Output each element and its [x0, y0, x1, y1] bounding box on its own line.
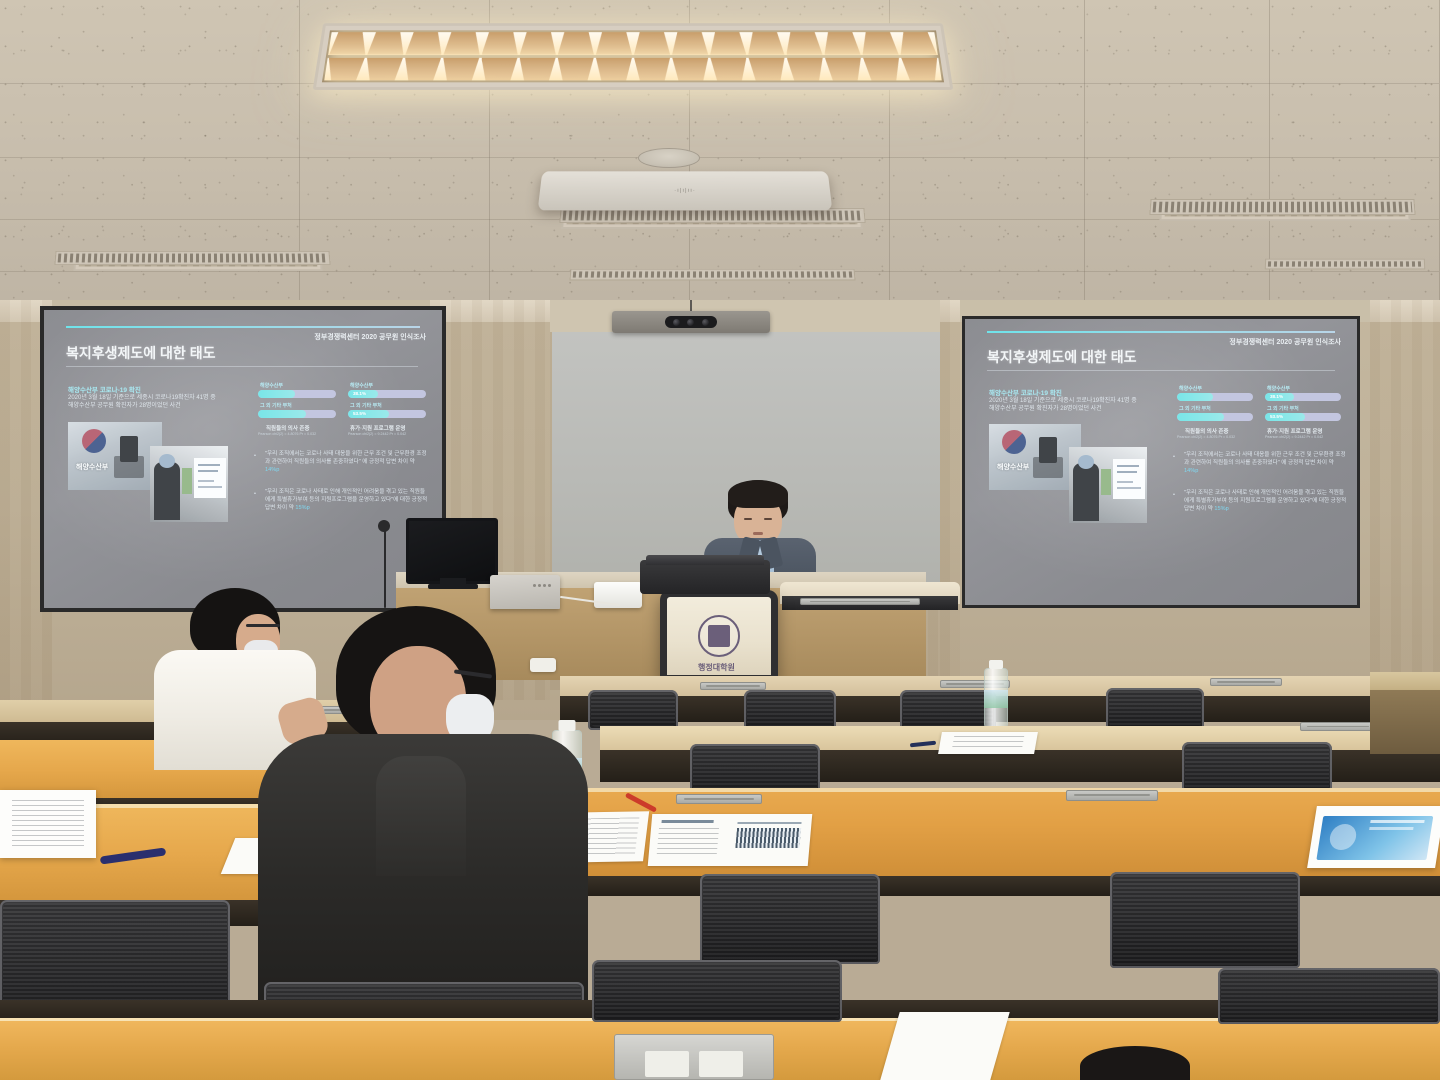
- bar-value: 38.1%: [353, 391, 366, 396]
- slide-title-rule: [66, 366, 418, 367]
- case-body: 2020년 3월 18일 기준으로 세종시 코로나19확진자 41명 중 해양수…: [68, 394, 258, 410]
- bar-value: 53.5%: [353, 411, 366, 416]
- bar-track: [1177, 393, 1253, 401]
- bar-fill: [258, 410, 306, 418]
- monitor-base: [428, 584, 478, 589]
- slide-header: 정부경쟁력센터 2020 공무원 인식조사: [1229, 337, 1341, 347]
- ceiling-speaker: ·ı|ı|ıı·: [538, 171, 833, 210]
- monitor-screen: [406, 518, 498, 584]
- bullet-text: "우리 조직은 코로나 사태로 인해 개인적인 어려움을 겪고 있는 직원들에게…: [1184, 490, 1346, 512]
- ceiling-tile-col: [1085, 0, 1270, 330]
- chart-title: 휴가·지원 프로그램 운영: [1267, 427, 1323, 435]
- bullet-item: • "우리 조직은 코로나 사태로 인해 개인적인 어려움을 겪고 있는 직원들…: [1173, 489, 1347, 513]
- wood-wall-panel: [940, 300, 960, 720]
- desktop-monitor: [406, 518, 498, 584]
- handout-paper: [880, 1012, 1009, 1080]
- bullet-text: "우리 조직에서는 코로나 사태 대응을 위한 근무 조건 및 근무환경 조정과…: [265, 451, 427, 465]
- booklet: [0, 790, 96, 858]
- office-chair: [588, 690, 678, 730]
- office-chair: [700, 874, 880, 964]
- handout-paper: [648, 814, 813, 866]
- table-row2-edge: [470, 788, 1440, 792]
- projection-screen-right: 정부경쟁력센터 2020 공무원 인식조사 복지후생제도에 대한 태도 해양수산…: [962, 316, 1360, 608]
- seminar-room-photo: ·ı|ı|ıı· 정부경쟁력센터 2020 공무원 인식조사 복지후생제도에 대…: [0, 0, 1440, 1080]
- office-chair: [1218, 968, 1440, 1024]
- slide-header: 정부경쟁력센터 2020 공무원 인식조사: [314, 332, 426, 342]
- bar-label: 그 외 기타 부처: [260, 402, 292, 409]
- case-photo-disinfection: [150, 446, 228, 522]
- camera-lens-icon: [665, 316, 717, 328]
- bullet-highlight: 14%p: [265, 467, 279, 473]
- office-chair: [592, 960, 842, 1022]
- chart-annotation: Pearson chi2(2) = 9.2442 Pr = 0.042: [1265, 435, 1323, 439]
- case-heading: 해양수산부 코로나-19 확진: [68, 384, 141, 394]
- bar-label: 그 외 기타 부처: [1267, 405, 1299, 412]
- bar-track: [258, 410, 336, 418]
- wood-wall-panel: [1370, 300, 1440, 720]
- case-body: 2020년 3월 18일 기준으로 세종시 코로나19확진자 41명 중 해양수…: [989, 397, 1179, 413]
- fluorescent-tube: [328, 32, 938, 54]
- bullet-marker: •: [254, 452, 256, 460]
- bar-label: 그 외 기타 부처: [350, 402, 382, 409]
- bullet-item: • "우리 조직은 코로나 사태로 인해 개인적인 어려움을 겪고 있는 직원들…: [254, 488, 430, 512]
- desk-power-port: [800, 598, 920, 605]
- bar-fill: [258, 390, 295, 398]
- office-chair: [744, 690, 836, 730]
- desk-power-port: [700, 682, 766, 690]
- chart-title: 직원들의 의사 존중: [266, 424, 310, 432]
- bullet-marker: •: [254, 490, 256, 498]
- desk-power-outlet: [614, 1034, 774, 1080]
- bar-track: [1177, 413, 1253, 421]
- water-bottle: [984, 668, 1008, 730]
- office-chair: [1106, 688, 1204, 730]
- taeguk-icon: [1002, 430, 1026, 454]
- bullet-text: "우리 조직은 코로나 사태로 인해 개인적인 어려움을 겪고 있는 직원들에게…: [265, 489, 427, 511]
- hvac-vent: [570, 269, 856, 280]
- photo-caption: 해양수산부: [997, 462, 1029, 472]
- bar-label: 해양수산부: [350, 382, 373, 389]
- handout-paper: [938, 732, 1038, 754]
- corner-desk-top: [1370, 672, 1440, 690]
- ceiling-tile-col: [120, 0, 300, 330]
- taeguk-icon: [82, 429, 106, 453]
- bar-track: [258, 390, 336, 398]
- university-emblem: 행정대학원: [698, 615, 740, 675]
- screen-surface: 정부경쟁력센터 2020 공무원 인식조사 복지후생제도에 대한 태도 해양수산…: [965, 319, 1357, 605]
- bullet-item: • "우리 조직에서는 코로나 사태 대응을 위한 근무 조건 및 근무환경 조…: [254, 450, 430, 474]
- bullet-highlight: 14%p: [1184, 468, 1198, 474]
- bullet-marker: •: [1173, 491, 1175, 499]
- bar-fill: [1177, 413, 1224, 421]
- laptop: [490, 575, 560, 609]
- slide-accent-bar: [66, 326, 420, 328]
- slide-right: 정부경쟁력센터 2020 공무원 인식조사 복지후생제도에 대한 태도 해양수산…: [965, 319, 1357, 605]
- attendee-dark-suit: [258, 606, 588, 1026]
- fluorescent-tube: [324, 57, 942, 80]
- emblem-label: 행정대학원: [698, 663, 735, 672]
- desk-power-port: [1066, 790, 1158, 801]
- chart-annotation: Pearson chi2(2) = 4.8076 Pr = 0.032: [258, 432, 316, 436]
- desk-power-port: [676, 794, 762, 804]
- desk-power-port: [1210, 678, 1282, 686]
- bar-chart-2: 해양수산부 38.1% 그 외 기타 부처 53.5% 휴가·지원 프로그램 운…: [1265, 385, 1341, 443]
- slide-accent-bar: [987, 331, 1335, 333]
- case-photo-ministry-sign: 해양수산부: [68, 422, 162, 490]
- bar-chart-1: 해양수산부 그 외 기타 부처 직원들의 의사 존중 Pearson chi2(…: [1177, 385, 1253, 443]
- attendee-head-partial: [1080, 1046, 1190, 1080]
- corner-desk-front: [1370, 690, 1440, 754]
- bullet-highlight: 15%p: [295, 505, 309, 511]
- video-conference-camera: [612, 311, 770, 333]
- slide-title: 복지후생제도에 대한 태도: [987, 347, 1136, 367]
- podium: 행정대학원: [660, 590, 778, 682]
- smoke-detector-icon: [638, 148, 700, 168]
- bar-label: 해양수산부: [1267, 385, 1290, 392]
- booklet: [1307, 806, 1440, 868]
- chart-title: 휴가·지원 프로그램 운영: [350, 424, 406, 432]
- bullet-highlight: 15%p: [1214, 506, 1228, 512]
- light-louver-assembly: [322, 30, 944, 82]
- podium-top-shelf: [640, 560, 770, 594]
- bar-fill: [1177, 393, 1213, 401]
- chart-annotation: Pearson chi2(2) = 4.8076 Pr = 0.032: [1177, 435, 1235, 439]
- case-photo-disinfection: [1069, 447, 1147, 523]
- slide-title-rule: [987, 370, 1335, 371]
- presenter-hair-top: [728, 480, 788, 508]
- bullet-text: "우리 조직에서는 코로나 사태 대응을 위한 근무 조건 및 근무환경 조정과…: [1184, 452, 1346, 466]
- bar-value: 38.1%: [1270, 394, 1283, 399]
- bar-label: 해양수산부: [1179, 385, 1202, 392]
- chart-annotation: Pearson chi2(2) = 9.2442 Pr = 0.042: [348, 432, 406, 436]
- photo-caption: 해양수산부: [76, 462, 108, 472]
- bullet-marker: •: [1173, 453, 1175, 461]
- bar-track: 38.1%: [1265, 393, 1341, 401]
- desk-power-port: [1300, 722, 1376, 731]
- cisco-logo: ·ı|ı|ıı·: [674, 189, 696, 194]
- bar-value: 53.5%: [1270, 414, 1283, 419]
- emblem-ring-icon: [698, 615, 740, 657]
- chart-title: 직원들의 의사 존중: [1185, 427, 1229, 435]
- hvac-vent: [54, 251, 330, 265]
- hvac-vent: [1149, 199, 1415, 215]
- case-photo-ministry-sign: 해양수산부: [989, 424, 1081, 490]
- bar-track: 53.5%: [348, 410, 426, 418]
- bar-chart-2: 해양수산부 38.1% 그 외 기타 부처 53.5% 휴가·지원 프로그램 운…: [348, 382, 426, 440]
- hvac-vent: [1265, 259, 1426, 270]
- office-chair: [1110, 872, 1300, 968]
- bullet-item: • "우리 조직에서는 코로나 사태 대응을 위한 근무 조건 및 근무환경 조…: [1173, 451, 1347, 475]
- slide-title: 복지후생제도에 대한 태도: [66, 343, 215, 363]
- bar-track: 38.1%: [348, 390, 426, 398]
- laptop-logo: [533, 584, 551, 587]
- podium-lip: [646, 555, 764, 565]
- bar-track: 53.5%: [1265, 413, 1341, 421]
- bar-label: 해양수산부: [260, 382, 283, 389]
- bar-chart-1: 해양수산부 그 외 기타 부처 직원들의 의사 존중 Pearson chi2(…: [258, 382, 336, 440]
- bar-label: 그 외 기타 부처: [1179, 405, 1211, 412]
- case-heading: 해양수산부 코로나-19 확진: [989, 387, 1062, 397]
- podium-body: 행정대학원: [660, 590, 778, 682]
- ceiling: ·ı|ı|ıı·: [0, 0, 1440, 330]
- ceiling-light-fixture: [313, 23, 954, 90]
